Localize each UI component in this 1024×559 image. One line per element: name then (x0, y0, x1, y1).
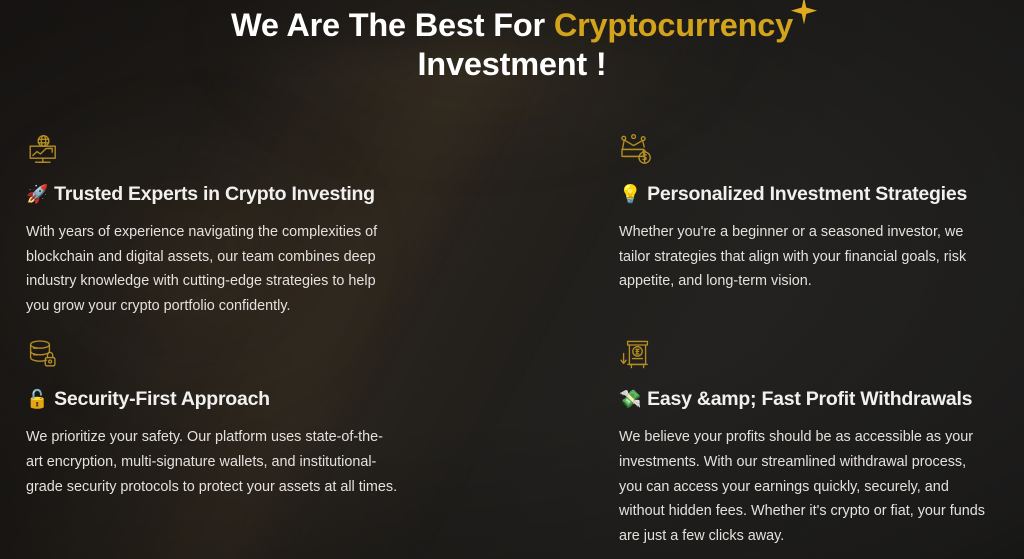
section-heading-wrapper: We Are The Best For Cryptocurrency Inves… (0, 6, 1024, 84)
landing-section: We Are The Best For Cryptocurrency Inves… (0, 0, 1024, 559)
feature-title-text: Easy &amp; Fast Profit Withdrawals (647, 388, 972, 410)
feature-card-personalized-strategies: 💡Personalized Investment Strategies Whet… (619, 133, 998, 318)
feature-title: 🔓Security-First Approach (26, 386, 405, 412)
feature-title: 🚀Trusted Experts in Crypto Investing (26, 181, 405, 207)
atm-withdrawal-coin-icon (619, 338, 653, 372)
feature-title: 💡Personalized Investment Strategies (619, 181, 998, 207)
feature-body: Whether you're a beginner or a seasoned … (619, 220, 987, 294)
feature-card-trusted-experts: 🚀Trusted Experts in Crypto Investing Wit… (26, 133, 405, 318)
feature-body: With years of experience navigating the … (26, 220, 398, 318)
page-title-accent: Cryptocurrency (554, 7, 793, 43)
page-title-part2: Investment ! (417, 46, 606, 82)
feature-card-security-first: 🔓Security-First Approach We prioritize y… (26, 338, 405, 548)
feature-card-fast-withdrawals: 💸Easy &amp; Fast Profit Withdrawals We b… (619, 338, 998, 548)
feature-title-text: Personalized Investment Strategies (647, 183, 967, 205)
globe-monitor-growth-chart-icon (26, 133, 60, 167)
gold-bars-money-bag-icon (619, 133, 653, 167)
money-with-wings-emoji: 💸 (619, 389, 641, 409)
page-title: We Are The Best For Cryptocurrency Inves… (231, 6, 793, 84)
light-bulb-emoji: 💡 (619, 184, 641, 204)
feature-body: We believe your profits should be as acc… (619, 425, 987, 548)
feature-body: We prioritize your safety. Our platform … (26, 425, 398, 499)
features-grid: 🚀Trusted Experts in Crypto Investing Wit… (0, 133, 1024, 548)
feature-title-text: Trusted Experts in Crypto Investing (54, 183, 375, 205)
page-title-part1: We Are The Best For (231, 7, 554, 43)
open-lock-emoji: 🔓 (26, 389, 48, 409)
coin-stack-lock-icon (26, 338, 60, 372)
feature-title: 💸Easy &amp; Fast Profit Withdrawals (619, 386, 998, 412)
rocket-emoji: 🚀 (26, 184, 48, 204)
feature-title-text: Security-First Approach (54, 388, 270, 410)
sparkle-star-icon (789, 0, 819, 26)
